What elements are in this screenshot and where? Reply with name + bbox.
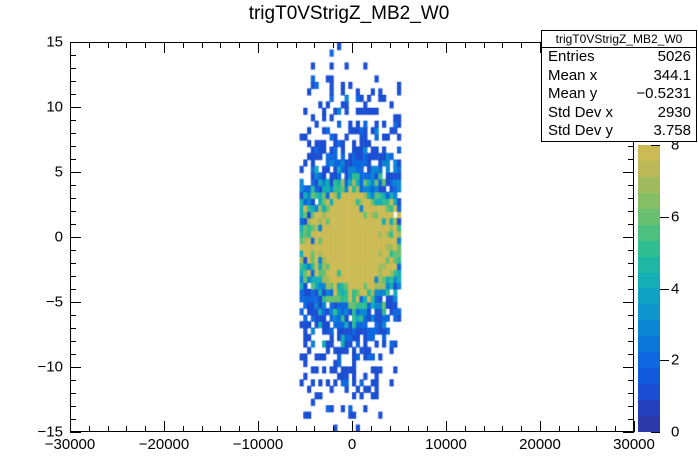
y-axis-minor-tick [70,289,76,290]
y-axis-minor-tick [70,211,76,212]
x-axis-major-tick [258,421,259,432]
y-axis-minor-tick [70,354,76,355]
x-axis-minor-tick [296,426,297,432]
y-axis-minor-tick-right [628,198,634,199]
x-axis-major-tick [70,421,71,432]
x-axis-minor-tick-top [484,42,485,48]
x-axis-minor-tick-top [333,42,334,48]
x-axis-minor-tick [559,426,560,432]
palette-swatch [638,161,660,177]
x-axis-label: 10000 [425,436,467,453]
x-axis-minor-tick [183,426,184,432]
y-axis-minor-tick-right [628,250,634,251]
statistics-key: Entries [548,48,595,67]
palette-swatch [638,193,660,209]
x-axis-minor-tick [314,426,315,432]
x-axis-minor-tick-top [126,42,127,48]
palette-tick [651,145,660,146]
palette-swatch [638,384,660,400]
y-axis-minor-tick [70,94,76,95]
x-axis-minor-tick-top [502,42,503,48]
x-axis-minor-tick [390,426,391,432]
y-axis-minor-tick [70,159,76,160]
x-axis-major-tick [164,421,165,432]
x-axis-minor-tick [596,426,597,432]
statistics-value: 3.758 [653,122,691,141]
y-axis-minor-tick [70,328,76,329]
y-axis-minor-tick [70,55,76,56]
x-axis-major-tick [446,421,447,432]
x-axis-minor-tick-top [521,42,522,48]
statistics-row: Std Dev y3.758 [542,122,696,141]
y-axis-major-tick [70,432,81,433]
y-axis-label: −5 [8,294,63,311]
statistics-row: Entries5026 [542,48,696,67]
x-axis-major-tick [634,421,635,432]
statistics-value: 2930 [658,104,691,123]
y-axis-minor-tick [70,120,76,121]
x-axis-major-tick-top [446,42,447,53]
y-axis-minor-tick [70,393,76,394]
y-axis-label: −15 [8,424,63,441]
y-axis-major-tick [70,302,81,303]
y-axis-minor-tick [70,419,76,420]
palette-swatch [638,257,660,273]
x-axis-minor-tick-top [408,42,409,48]
y-axis-major-tick [70,42,81,43]
x-axis-minor-tick [202,426,203,432]
statistics-box-title: trigT0VStrigZ_MB2_W0 [542,31,696,48]
y-axis-minor-tick [70,133,76,134]
palette-swatch [638,225,660,241]
palette-tick [660,360,669,361]
y-axis-label: 15 [8,34,63,51]
y-axis-minor-tick-right [628,185,634,186]
x-axis-minor-tick-top [89,42,90,48]
y-axis-minor-tick [70,68,76,69]
y-axis-major-tick [70,172,81,173]
statistics-box[interactable]: trigT0VStrigZ_MB2_W0 Entries5026Mean x34… [541,30,697,142]
y-axis-minor-tick [70,315,76,316]
y-axis-minor-tick [70,406,76,407]
statistics-key: Std Dev x [548,104,613,123]
x-axis-minor-tick [615,426,616,432]
x-axis-minor-tick [333,426,334,432]
palette-swatch [638,400,660,416]
y-axis-minor-tick [70,185,76,186]
y-axis-minor-tick-right [628,380,634,381]
palette-swatch [638,304,660,320]
x-axis-minor-tick [484,426,485,432]
palette-swatch [638,209,660,225]
statistics-row: Mean y−0.5231 [542,85,696,104]
x-axis-minor-tick [521,426,522,432]
statistics-key: Std Dev y [548,122,613,141]
palette-label: 0 [671,424,679,441]
palette-label: 2 [671,352,679,369]
palette-tick [660,217,669,218]
x-axis-minor-tick-top [145,42,146,48]
statistics-value: −0.5231 [636,85,691,104]
y-axis-minor-tick [70,263,76,264]
x-axis-label: 30000 [613,436,655,453]
y-axis-major-tick-right [623,302,634,303]
y-axis-major-tick-right [623,172,634,173]
x-axis-minor-tick-top [239,42,240,48]
palette-tick [660,289,669,290]
x-axis-label: −20000 [139,436,189,453]
y-axis-minor-tick-right [628,146,634,147]
palette-swatch [638,416,660,432]
root-canvas: trigT0VStrigZ_MB2_W0 −30000−20000−100000… [0,0,698,476]
x-axis-minor-tick-top [108,42,109,48]
y-axis-minor-tick [70,341,76,342]
x-axis-minor-tick [578,426,579,432]
statistics-key: Mean x [548,67,597,86]
palette-swatch [638,288,660,304]
x-axis-major-tick [352,421,353,432]
palette-swatch [638,336,660,352]
x-axis-label: −10000 [233,436,283,453]
x-axis-minor-tick-top [296,42,297,48]
x-axis-minor-tick-top [220,42,221,48]
y-axis-minor-tick [70,146,76,147]
x-axis-minor-tick [427,426,428,432]
statistics-value: 344.1 [653,67,691,86]
color-palette-bar[interactable] [638,145,660,432]
statistics-row: Std Dev x2930 [542,104,696,123]
x-axis-minor-tick-top [183,42,184,48]
palette-swatch [638,352,660,368]
y-axis-minor-tick-right [628,406,634,407]
y-axis-minor-tick-right [628,263,634,264]
y-axis-major-tick [70,237,81,238]
y-axis-major-tick [70,107,81,108]
y-axis-minor-tick-right [628,419,634,420]
palette-swatch [638,177,660,193]
y-axis-minor-tick-right [628,211,634,212]
x-axis-minor-tick-top [427,42,428,48]
x-axis-minor-tick-top [314,42,315,48]
palette-swatch [638,368,660,384]
y-axis-minor-tick-right [628,341,634,342]
x-axis-minor-tick-top [465,42,466,48]
palette-tick [651,432,660,433]
y-axis-minor-tick-right [628,276,634,277]
statistics-row: Mean x344.1 [542,67,696,86]
y-axis-minor-tick [70,276,76,277]
y-axis-minor-tick-right [628,289,634,290]
x-axis-major-tick-top [352,42,353,53]
y-axis-minor-tick [70,198,76,199]
x-axis-minor-tick-top [277,42,278,48]
y-axis-minor-tick [70,224,76,225]
palette-swatches [638,145,660,432]
x-axis-minor-tick [239,426,240,432]
y-axis-minor-tick [70,81,76,82]
x-axis-minor-tick [89,426,90,432]
palette-swatch [638,145,660,161]
y-axis-label: −10 [8,359,63,376]
x-axis-minor-tick [145,426,146,432]
x-axis-major-tick-top [70,42,71,53]
y-axis-label: 10 [8,99,63,116]
x-axis-minor-tick-top [390,42,391,48]
x-axis-minor-tick [465,426,466,432]
statistics-key: Mean y [548,85,597,104]
palette-swatch [638,241,660,257]
y-axis-minor-tick-right [628,393,634,394]
x-axis-label: 20000 [519,436,561,453]
y-axis-minor-tick-right [628,315,634,316]
x-axis-minor-tick [108,426,109,432]
statistics-value: 5026 [658,48,691,67]
y-axis-minor-tick [70,380,76,381]
x-axis-major-tick [540,421,541,432]
x-axis-minor-tick [220,426,221,432]
palette-label: 4 [671,281,679,298]
page-title: trigT0VStrigZ_MB2_W0 [0,3,698,25]
x-axis-major-tick-top [164,42,165,53]
x-axis-label: 0 [348,436,356,453]
y-axis-label: 5 [8,164,63,181]
x-axis-minor-tick [126,426,127,432]
y-axis-minor-tick [70,250,76,251]
x-axis-minor-tick [277,426,278,432]
y-axis-minor-tick-right [628,224,634,225]
statistics-rows: Entries5026Mean x344.1Mean y−0.5231Std D… [542,48,696,141]
x-axis-minor-tick [502,426,503,432]
y-axis-minor-tick-right [628,159,634,160]
x-axis-major-tick-top [258,42,259,53]
palette-label: 6 [671,209,679,226]
y-axis-major-tick-right [623,367,634,368]
y-axis-minor-tick-right [628,354,634,355]
x-axis-minor-tick-top [371,42,372,48]
x-axis-minor-tick-top [202,42,203,48]
y-axis-minor-tick-right [628,328,634,329]
x-axis-minor-tick [408,426,409,432]
y-axis-major-tick-right [623,237,634,238]
y-axis-major-tick [70,367,81,368]
palette-swatch [638,320,660,336]
x-axis-minor-tick [371,426,372,432]
palette-swatch [638,273,660,289]
y-axis-major-tick-right [623,432,634,433]
y-axis-label: 0 [8,229,63,246]
